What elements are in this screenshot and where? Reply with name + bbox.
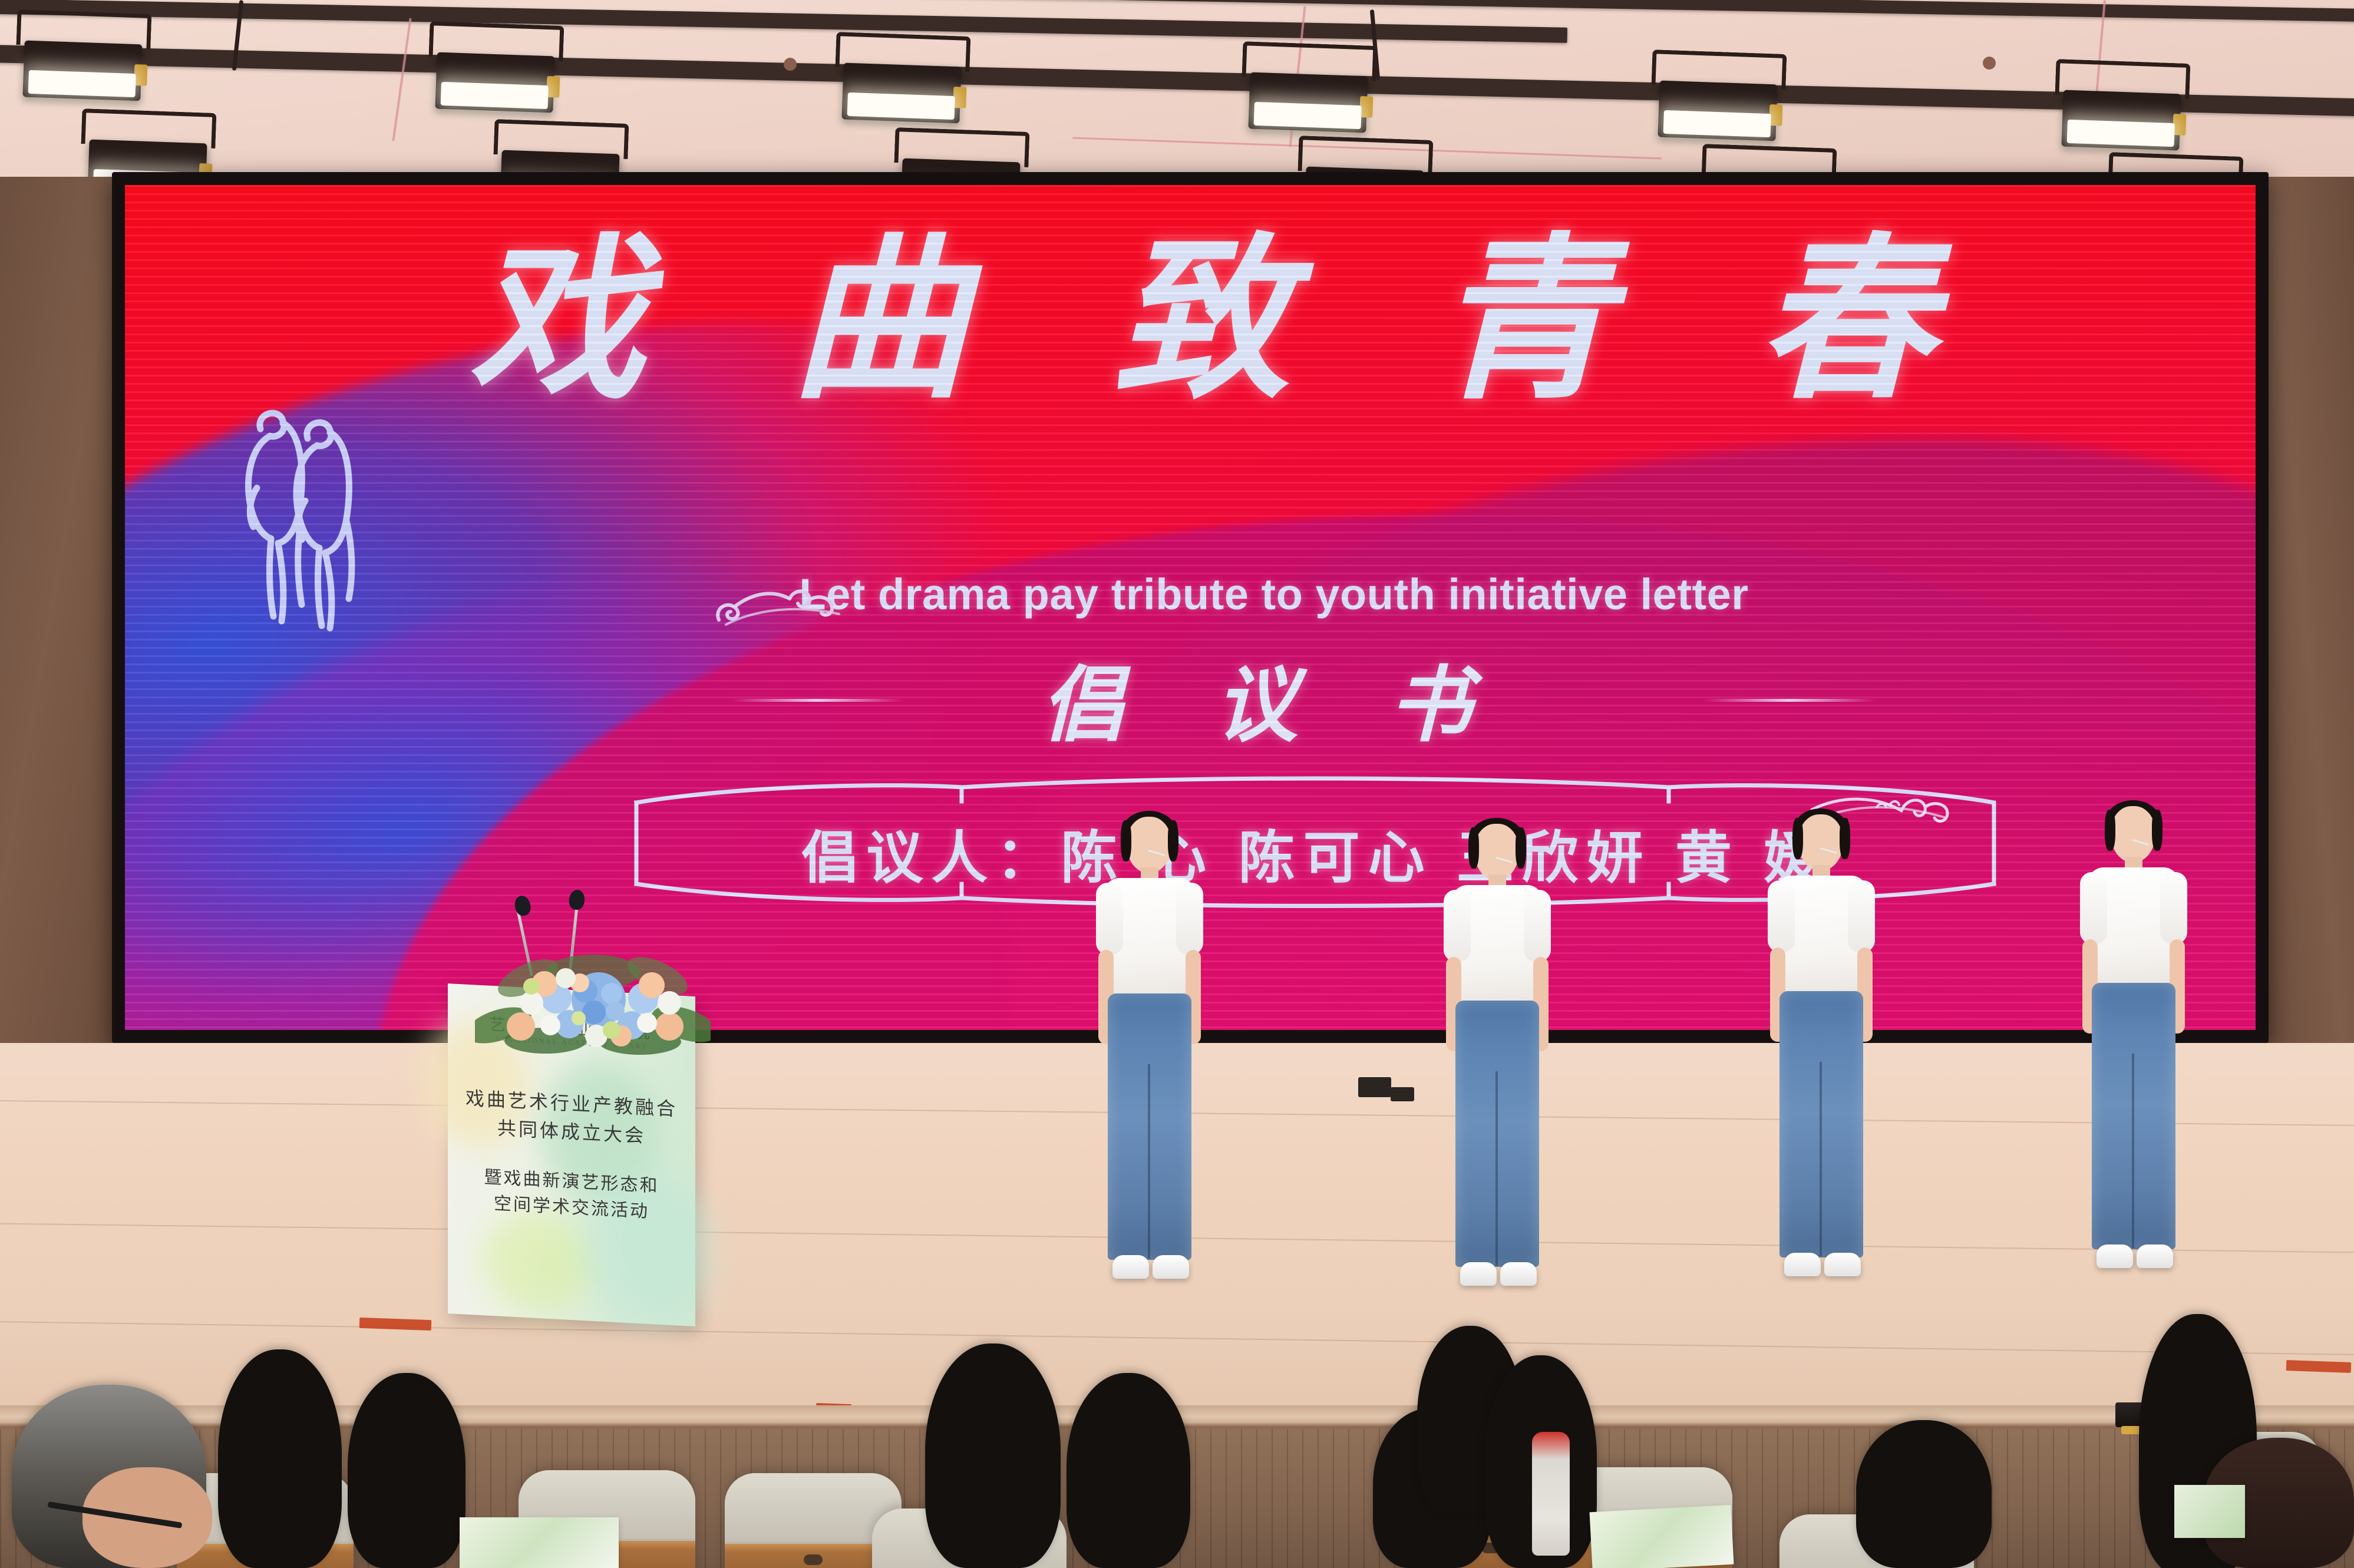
performer-4 <box>2068 806 2198 1289</box>
cloud-swirl-icon <box>708 568 844 633</box>
performer-hair-side <box>1516 827 1526 869</box>
performer-shoe <box>1460 1262 1497 1286</box>
light-yoke <box>16 9 151 49</box>
program-booklet[interactable] <box>460 1517 619 1568</box>
performer-head <box>1798 814 1843 871</box>
performer-jeans <box>1455 1001 1539 1267</box>
light-lens <box>2067 120 2175 147</box>
performer-shoe <box>1112 1255 1149 1279</box>
stage-light-fixture <box>435 52 554 113</box>
performer-shoe <box>1500 1262 1537 1286</box>
performer-shoe <box>1824 1253 1861 1276</box>
opera-couple-line-icon <box>219 397 408 633</box>
performer-shoe <box>2137 1245 2173 1268</box>
performer-hair-side <box>1468 827 1479 869</box>
light-yoke <box>1297 136 1433 176</box>
light-lens <box>1663 110 1771 137</box>
performer-shoe <box>1153 1255 1189 1279</box>
audience-head <box>1856 1420 1992 1568</box>
stage-marker-tape <box>2286 1360 2352 1373</box>
performer-head <box>2111 806 2155 863</box>
performer-head <box>1474 824 1519 880</box>
screen-document-title: 倡 议 书 <box>655 639 1893 758</box>
program-booklet[interactable] <box>2174 1485 2245 1538</box>
performer-hair-side <box>1792 818 1803 859</box>
right-wall <box>2263 177 2354 1131</box>
floor-power-socket <box>1391 1087 1414 1101</box>
light-lens <box>1254 102 1362 129</box>
light-lens <box>441 82 549 109</box>
auditorium-stage-photo: 戏 曲 致 青 春 Let drama pay tribute to youth… <box>0 0 2354 1568</box>
performer-3 <box>1756 814 1886 1298</box>
audience-head <box>925 1343 1061 1568</box>
light-yoke <box>2055 59 2190 99</box>
stage-light-fixture <box>841 63 961 124</box>
ceiling-sprinkler <box>784 58 797 71</box>
performer-sleeve <box>1176 883 1203 955</box>
performer-head <box>1127 817 1171 873</box>
performer-sleeve <box>1524 890 1551 962</box>
performer-sleeve <box>1768 880 1795 952</box>
podium-graphic-blob <box>483 1209 595 1315</box>
performer-sleeve <box>2080 872 2107 944</box>
performer-jeans <box>1779 991 1863 1257</box>
title-rule-right <box>1704 699 1875 702</box>
screen-title-cn: 戏 曲 致 青 春 <box>402 185 2052 433</box>
performer-hair-side <box>2105 810 2115 851</box>
performer-hair-side <box>1840 818 1850 859</box>
stage-light-fixture <box>22 41 142 101</box>
performer-jeans <box>1108 993 1191 1260</box>
performer-hair-side <box>2152 810 2162 851</box>
light-lens <box>847 93 955 120</box>
light-lens <box>28 70 136 97</box>
stage-light-fixture <box>1658 81 1777 141</box>
left-wall <box>0 177 118 1120</box>
audience-head <box>218 1349 342 1568</box>
light-yoke <box>81 108 216 148</box>
audience-head <box>1067 1373 1190 1568</box>
performer-sleeve <box>1096 883 1123 955</box>
stage-light-fixture <box>2061 90 2181 151</box>
flower-arrangement <box>475 937 711 1055</box>
performer-hair-side <box>1121 820 1131 861</box>
performer-jeans <box>2092 983 2175 1249</box>
water-bottle[interactable] <box>1532 1432 1570 1556</box>
light-yoke <box>894 127 1029 167</box>
performer-shoe <box>1784 1253 1821 1276</box>
floor-seam <box>0 1321 2354 1355</box>
light-yoke <box>493 119 629 159</box>
performer-sleeve <box>2160 872 2187 944</box>
light-yoke <box>1651 49 1787 90</box>
performer-shoe <box>2097 1245 2133 1268</box>
stage-light-fixture <box>1248 72 1368 133</box>
floor-power-socket <box>1358 1077 1391 1097</box>
performer-hair-side <box>1168 820 1178 861</box>
performer-2 <box>1432 824 1561 1307</box>
performer-sleeve <box>1444 890 1471 962</box>
ceiling-sprinkler <box>1983 57 1996 70</box>
light-yoke <box>835 32 970 72</box>
performer-1 <box>1084 817 1214 1300</box>
seat-knob <box>804 1554 823 1565</box>
light-yoke <box>1242 41 1377 81</box>
program-booklet[interactable] <box>1590 1505 1734 1568</box>
light-yoke <box>428 21 564 61</box>
audience-head <box>348 1373 465 1568</box>
performer-sleeve <box>1848 880 1875 952</box>
